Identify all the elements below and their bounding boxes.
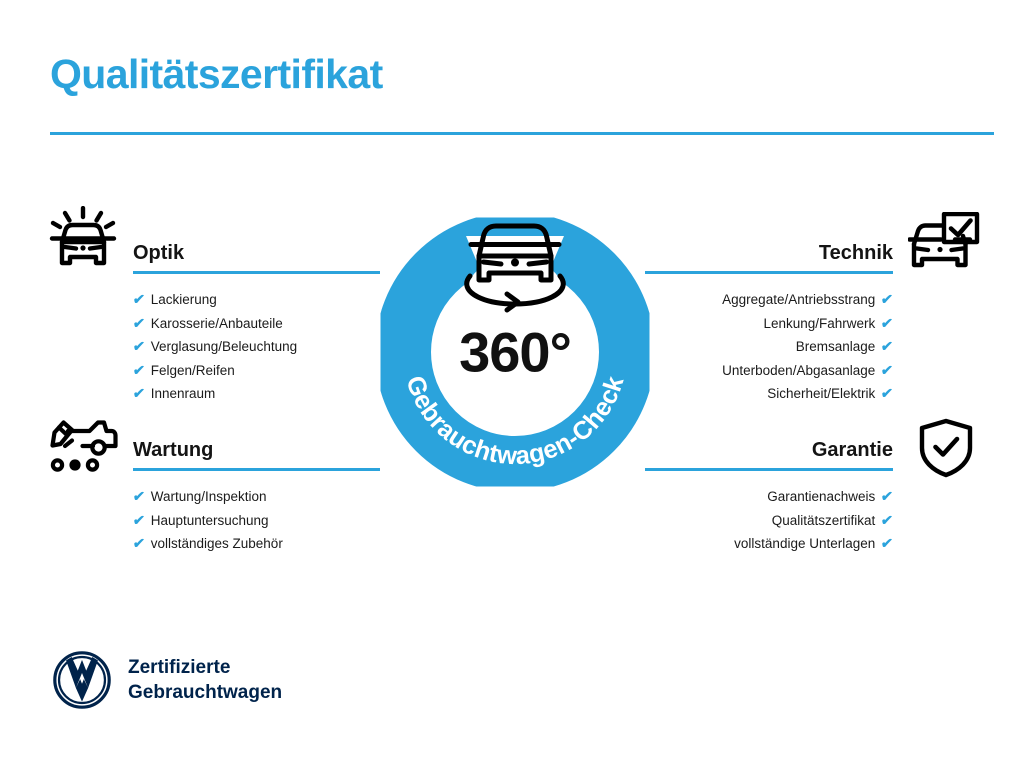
section-header: Technik xyxy=(645,240,893,274)
vw-logo xyxy=(52,650,112,710)
list-item-label: Garantienachweis xyxy=(767,489,875,504)
list-item: vollständige Unterlagen✔ xyxy=(645,532,893,556)
title-divider xyxy=(50,132,994,135)
check-icon: ✔ xyxy=(880,288,894,312)
section-header: Wartung xyxy=(133,437,380,471)
section-title: Wartung xyxy=(133,437,380,463)
section-divider xyxy=(133,468,380,471)
checklist-wartung: ✔Wartung/Inspektion ✔Hauptuntersuchung ✔… xyxy=(133,485,380,556)
list-item: ✔Lackierung xyxy=(133,288,380,312)
footer-line-1: Zertifizierte xyxy=(128,655,282,680)
section-header: Optik xyxy=(133,240,380,274)
section-technik: Technik Aggregate/Antriebsstrang✔ Lenkun… xyxy=(645,240,893,406)
list-item: Aggregate/Antriebsstrang✔ xyxy=(645,288,893,312)
list-item-label: Bremsanlage xyxy=(796,339,876,354)
list-item-label: Unterboden/Abgasanlage xyxy=(722,363,875,378)
list-item: ✔Felgen/Reifen xyxy=(133,359,380,383)
list-item-label: vollständiges Zubehör xyxy=(151,536,283,551)
car-polish-icon xyxy=(48,206,118,272)
car-checkbox-icon xyxy=(908,212,980,272)
check-icon: ✔ xyxy=(880,312,894,336)
section-divider xyxy=(645,271,893,274)
check-icon: ✔ xyxy=(132,509,146,533)
footer-brand-text: Zertifizierte Gebrauchtwagen xyxy=(128,655,282,705)
list-item-label: vollständige Unterlagen xyxy=(734,536,875,551)
list-item: ✔Hauptuntersuchung xyxy=(133,509,380,533)
check-icon: ✔ xyxy=(880,359,894,383)
badge-360-gebrauchtwagen-check: Gebrauchtwagen-Check 360° xyxy=(370,192,660,492)
check-icon: ✔ xyxy=(880,509,894,533)
list-item-label: Hauptuntersuchung xyxy=(151,513,269,528)
page-title: Qualitätszertifikat xyxy=(50,54,383,95)
car-service-pencil-icon xyxy=(48,418,118,474)
section-divider xyxy=(133,271,380,274)
list-item: Sicherheit/Elektrik✔ xyxy=(645,382,893,406)
list-item: Lenkung/Fahrwerk✔ xyxy=(645,312,893,336)
list-item: Bremsanlage✔ xyxy=(645,335,893,359)
check-icon: ✔ xyxy=(132,335,146,359)
list-item-label: Innenraum xyxy=(151,386,216,401)
check-icon: ✔ xyxy=(132,359,146,383)
list-item-label: Qualitätszertifikat xyxy=(772,513,876,528)
shield-check-icon xyxy=(918,418,974,478)
check-icon: ✔ xyxy=(880,485,894,509)
section-title: Optik xyxy=(133,240,380,266)
list-item: Unterboden/Abgasanlage✔ xyxy=(645,359,893,383)
list-item-label: Lackierung xyxy=(151,292,217,307)
footer-line-2: Gebrauchtwagen xyxy=(128,680,282,705)
section-header: Garantie xyxy=(645,437,893,471)
list-item-label: Lenkung/Fahrwerk xyxy=(763,316,875,331)
check-icon: ✔ xyxy=(132,532,146,556)
list-item-label: Verglasung/Beleuchtung xyxy=(151,339,297,354)
list-item-label: Karosserie/Anbauteile xyxy=(151,316,283,331)
checklist-technik: Aggregate/Antriebsstrang✔ Lenkung/Fahrwe… xyxy=(645,288,893,406)
list-item: ✔Verglasung/Beleuchtung xyxy=(133,335,380,359)
list-item-label: Sicherheit/Elektrik xyxy=(767,386,875,401)
check-icon: ✔ xyxy=(880,335,894,359)
check-icon: ✔ xyxy=(132,288,146,312)
check-icon: ✔ xyxy=(880,382,894,406)
list-item: ✔Karosserie/Anbauteile xyxy=(133,312,380,336)
list-item-label: Wartung/Inspektion xyxy=(151,489,267,504)
footer-brand: Zertifizierte Gebrauchtwagen xyxy=(52,650,282,710)
list-item: Qualitätszertifikat✔ xyxy=(645,509,893,533)
list-item-label: Felgen/Reifen xyxy=(151,363,235,378)
list-item: ✔Wartung/Inspektion xyxy=(133,485,380,509)
section-divider xyxy=(645,468,893,471)
check-icon: ✔ xyxy=(132,382,146,406)
check-icon: ✔ xyxy=(132,312,146,336)
list-item-label: Aggregate/Antriebsstrang xyxy=(722,292,875,307)
section-garantie: Garantie Garantienachweis✔ Qualitätszert… xyxy=(645,437,893,556)
section-title: Technik xyxy=(645,240,893,266)
check-icon: ✔ xyxy=(132,485,146,509)
section-wartung: Wartung ✔Wartung/Inspektion ✔Hauptunters… xyxy=(133,437,380,556)
checklist-garantie: Garantienachweis✔ Qualitätszertifikat✔ v… xyxy=(645,485,893,556)
list-item: ✔Innenraum xyxy=(133,382,380,406)
list-item: ✔vollständiges Zubehör xyxy=(133,532,380,556)
badge-center-text: 360° xyxy=(459,321,571,384)
checklist-optik: ✔Lackierung ✔Karosserie/Anbauteile ✔Verg… xyxy=(133,288,380,406)
check-icon: ✔ xyxy=(880,532,894,556)
section-title: Garantie xyxy=(645,437,893,463)
section-optik: Optik ✔Lackierung ✔Karosserie/Anbauteile… xyxy=(133,240,380,406)
list-item: Garantienachweis✔ xyxy=(645,485,893,509)
